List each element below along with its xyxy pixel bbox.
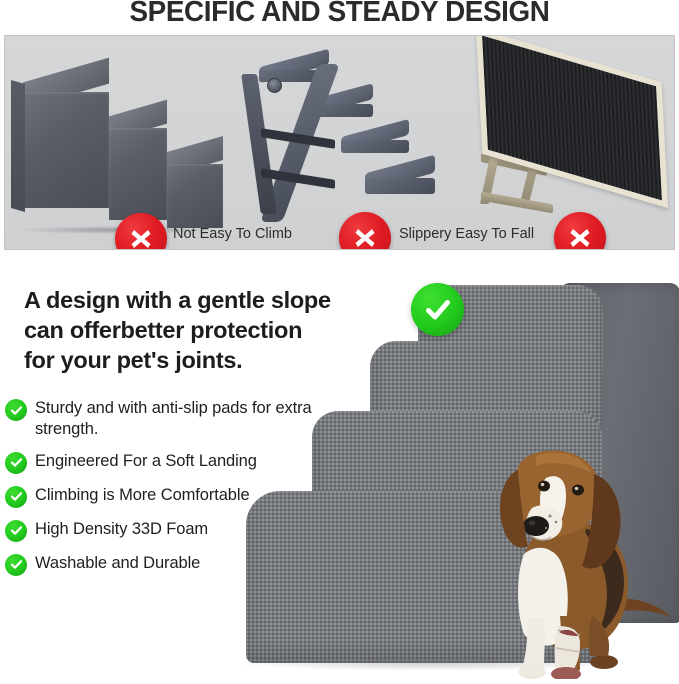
foam-box-stairs-image bbox=[11, 50, 226, 230]
infographic-page: SPECIFIC AND STEADY DESIGN bbox=[0, 0, 679, 679]
feature-text: Engineered For a Soft Landing bbox=[35, 451, 257, 472]
dog-photo bbox=[432, 404, 679, 679]
ramp-carpet-surface bbox=[482, 36, 662, 201]
check-badge-icon bbox=[411, 283, 464, 336]
hinge-knob-icon bbox=[267, 78, 282, 93]
headline: A design with a gentle slope can offerbe… bbox=[24, 286, 354, 376]
check-circle-icon bbox=[5, 554, 27, 576]
wooden-ramp-image bbox=[461, 48, 673, 238]
plastic-folding-stairs-image bbox=[245, 46, 450, 236]
check-circle-icon bbox=[5, 399, 27, 421]
headline-line-2: can offerbetter protection bbox=[24, 316, 354, 346]
negative-example-foam-box-stairs: Not Easy To Climb bbox=[5, 36, 237, 250]
check-circle-icon bbox=[5, 486, 27, 508]
list-item: Sturdy and with anti-slip pads for extra… bbox=[5, 398, 335, 440]
negative-examples-panel: Not Easy To Climb bbox=[4, 35, 675, 250]
negative-example-wooden-ramp bbox=[457, 36, 675, 250]
check-circle-icon bbox=[5, 452, 27, 474]
headline-line-1: A design with a gentle slope bbox=[24, 286, 354, 316]
feature-list: Sturdy and with anti-slip pads for extra… bbox=[5, 398, 335, 587]
list-item: High Density 33D Foam bbox=[5, 519, 335, 542]
feature-text: High Density 33D Foam bbox=[35, 519, 208, 540]
feature-text: Sturdy and with anti-slip pads for extra… bbox=[35, 398, 335, 440]
list-item: Washable and Durable bbox=[5, 553, 335, 576]
negative-example-plastic-folding-stairs: Slippery Easy To Fall bbox=[237, 36, 457, 250]
check-circle-icon bbox=[5, 520, 27, 542]
headline-line-3: for your pet's joints. bbox=[24, 346, 354, 376]
list-item: Engineered For a Soft Landing bbox=[5, 451, 335, 474]
feature-text: Washable and Durable bbox=[35, 553, 200, 574]
page-title: SPECIFIC AND STEADY DESIGN bbox=[14, 0, 666, 29]
feature-text: Climbing is More Comfortable bbox=[35, 485, 250, 506]
ramp-board bbox=[476, 35, 668, 208]
list-item: Climbing is More Comfortable bbox=[5, 485, 335, 508]
